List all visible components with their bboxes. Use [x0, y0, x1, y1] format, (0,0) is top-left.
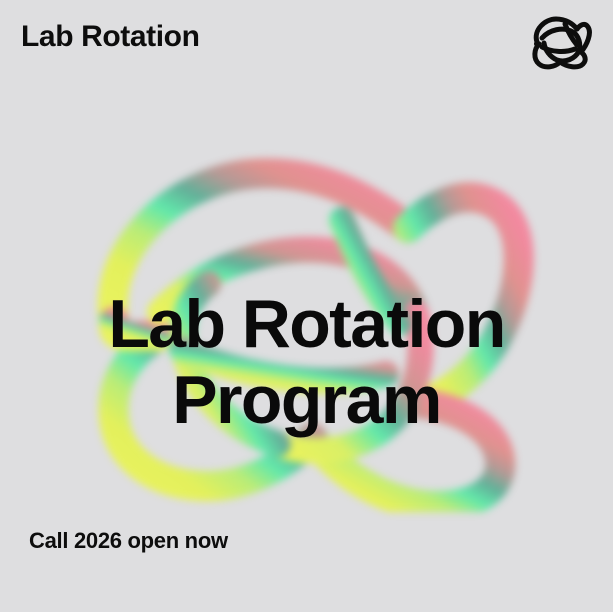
page-title: Lab Rotation — [21, 22, 200, 52]
atom-knot-logo-icon — [525, 8, 593, 76]
headline-line-1: Lab Rotation — [0, 286, 613, 362]
poster-canvas: Lab Rotation Lab Rotation Program — [0, 0, 613, 612]
call-status-note: Call 2026 open now — [29, 528, 228, 554]
headline: Lab Rotation Program — [0, 286, 613, 438]
headline-line-2: Program — [0, 362, 613, 438]
header-bar: Lab Rotation — [0, 0, 613, 92]
